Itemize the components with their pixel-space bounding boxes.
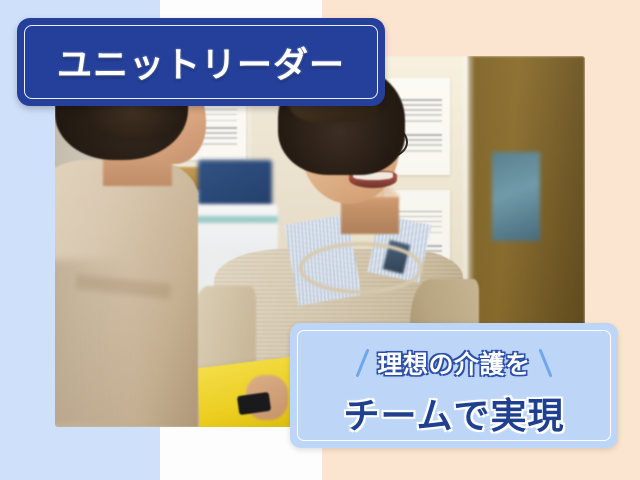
slash-right-icon bbox=[538, 348, 552, 377]
job-title-badge: ユニットリーダー bbox=[17, 18, 385, 106]
tagline-line-2-text: チームで実現 bbox=[290, 387, 618, 439]
tagline-line-1-text: 理想の介護を bbox=[377, 345, 530, 381]
job-title-text: ユニットリーダー bbox=[17, 18, 385, 106]
poster-canvas: ユニットリーダー 理想の介護を チームで実現 bbox=[0, 0, 640, 480]
wristwatch bbox=[237, 391, 271, 414]
tagline-line-1-row: 理想の介護を bbox=[290, 345, 618, 381]
slash-left-icon bbox=[356, 348, 370, 377]
tagline-badge: 理想の介護を チームで実現 bbox=[290, 323, 618, 448]
sweater-neckline bbox=[299, 242, 424, 295]
door-poster bbox=[492, 152, 540, 241]
